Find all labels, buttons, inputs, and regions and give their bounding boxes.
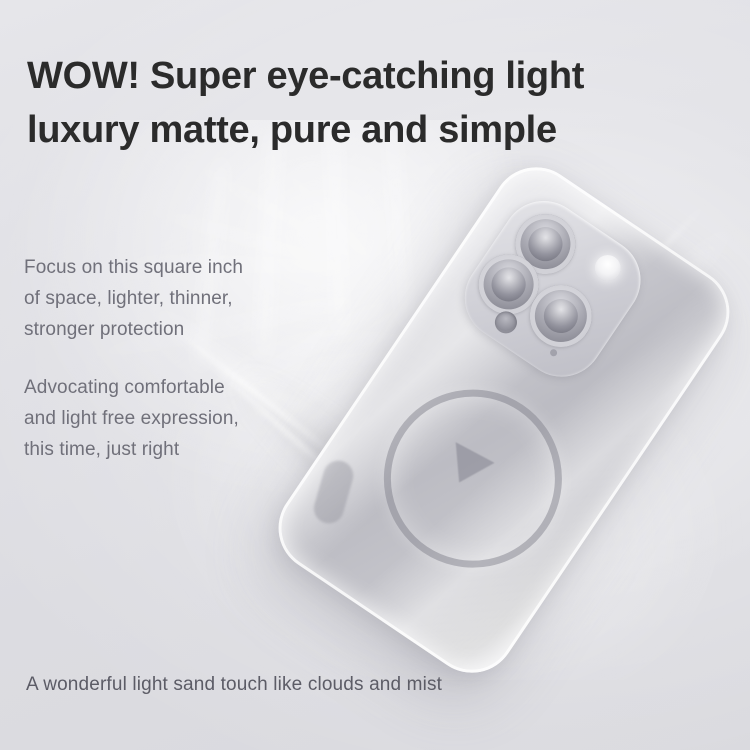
phone-body: [261, 150, 746, 690]
paragraph-line: Advocating comfortable: [24, 373, 324, 404]
paragraph-line: stronger protection: [24, 315, 324, 346]
paragraph-line: this time, just right: [24, 435, 324, 466]
product-banner: WOW! Super eye-catching light luxury mat…: [0, 0, 750, 750]
feature-paragraph: Advocating comfortable and light free ex…: [24, 373, 324, 465]
paragraph-line: Focus on this square inch: [24, 253, 324, 284]
side-button: [310, 457, 356, 527]
paragraph-line: of space, lighter, thinner,: [24, 284, 324, 315]
feature-paragraph: Focus on this square inch of space, ligh…: [24, 253, 324, 345]
footer-caption: A wonderful light sand touch like clouds…: [26, 674, 442, 696]
page-title: WOW! Super eye-catching light luxury mat…: [27, 50, 727, 158]
feature-description-block: Focus on this square inch of space, ligh…: [24, 253, 324, 466]
headline-line-2: luxury matte, pure and simple: [27, 104, 727, 158]
paragraph-line: and light free expression,: [24, 404, 324, 435]
headline-line-1: WOW! Super eye-catching light: [27, 50, 727, 104]
product-image: [330, 175, 750, 645]
microphone-dot-icon: [549, 348, 559, 358]
camera-module: [449, 185, 657, 393]
camera-flash-icon: [590, 250, 626, 286]
